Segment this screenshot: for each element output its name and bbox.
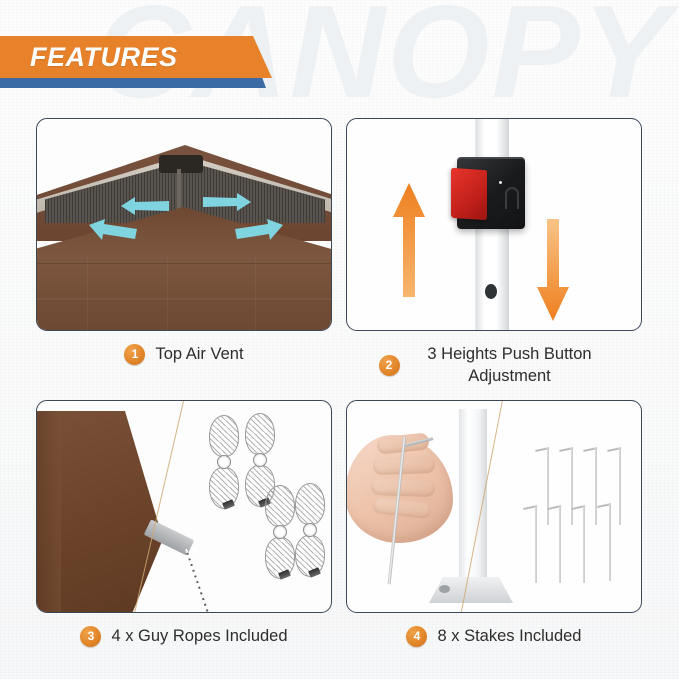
illustration-guy-ropes [36, 400, 332, 613]
foot-plate-hole [439, 585, 450, 593]
feature-caption-text: 8 x Stakes Included [437, 625, 581, 647]
stake-shaft [609, 504, 611, 581]
feature-card-push-button: 2 3 Heights Push Button Adjustment [346, 118, 646, 388]
illustration-top-air-vent [36, 118, 332, 331]
stake-shaft [535, 506, 537, 583]
guy-rope-coil [295, 483, 325, 581]
feature-caption-text: Top Air Vent [155, 343, 243, 365]
feature-number-badge: 3 [80, 626, 101, 647]
finger [371, 478, 436, 497]
red-push-button [451, 168, 487, 221]
airflow-arrow-lower-left-icon [87, 217, 139, 243]
guy-rope-coil [209, 415, 239, 513]
attached-guy-rope [185, 549, 210, 613]
housing-dot [499, 181, 502, 184]
canopy-fold [255, 257, 256, 331]
feature-card-top-air-vent: 1 Top Air Vent [36, 118, 336, 365]
caption-guy-ropes: 3 4 x Guy Ropes Included [36, 625, 332, 647]
airflow-arrow-right-icon [201, 191, 253, 213]
feature-card-stakes: 4 8 x Stakes Included [346, 400, 646, 647]
airflow-arrow-left-icon [119, 195, 171, 217]
rope-tensioner-ring [303, 523, 317, 537]
illustration-stakes [346, 400, 642, 613]
features-grid: 1 Top Air Vent [0, 112, 679, 679]
finger [373, 456, 436, 475]
airflow-arrow-lower-right-icon [233, 217, 285, 243]
caption-top-air-vent: 1 Top Air Vent [36, 343, 332, 365]
header: CANOPY FEATURES [0, 0, 679, 112]
rope-loop-top [295, 483, 325, 525]
canopy-fold [167, 257, 168, 331]
rope-tensioner-ring [273, 525, 287, 539]
feature-caption-text: 3 Heights Push Button Adjustment [410, 343, 610, 388]
feature-number-badge: 4 [406, 626, 427, 647]
canopy-hem [36, 411, 63, 613]
feature-number-badge: 1 [124, 344, 145, 365]
rope-loop-top [245, 413, 275, 455]
stake [597, 499, 623, 581]
stake [547, 501, 573, 583]
stake [571, 501, 597, 583]
feature-card-guy-ropes: 3 4 x Guy Ropes Included [36, 400, 336, 647]
pole-adjustment-hole [485, 284, 497, 299]
arrow-down-icon [535, 217, 571, 323]
stake-shaft [583, 506, 585, 583]
feature-caption-text: 4 x Guy Ropes Included [111, 625, 287, 647]
rope-loop-top [265, 485, 295, 527]
canopy-graphic [36, 145, 332, 331]
rope-tensioner-ring [253, 453, 267, 467]
housing-slot [505, 187, 519, 209]
rope-loop-top [209, 415, 239, 457]
page-title: FEATURES [30, 36, 178, 78]
stake [523, 501, 549, 583]
stake-shaft [559, 506, 561, 583]
rope-tensioner-ring [217, 455, 231, 469]
features-banner: FEATURES [0, 36, 300, 92]
caption-stakes: 4 8 x Stakes Included [346, 625, 642, 647]
guy-rope-coil [265, 485, 295, 583]
illustration-push-button [346, 118, 642, 331]
canopy-fold [87, 257, 88, 331]
vent-cap [159, 155, 203, 173]
feature-number-badge: 2 [379, 355, 400, 376]
arrow-up-icon [391, 181, 427, 299]
caption-push-button: 2 3 Heights Push Button Adjustment [346, 343, 642, 388]
